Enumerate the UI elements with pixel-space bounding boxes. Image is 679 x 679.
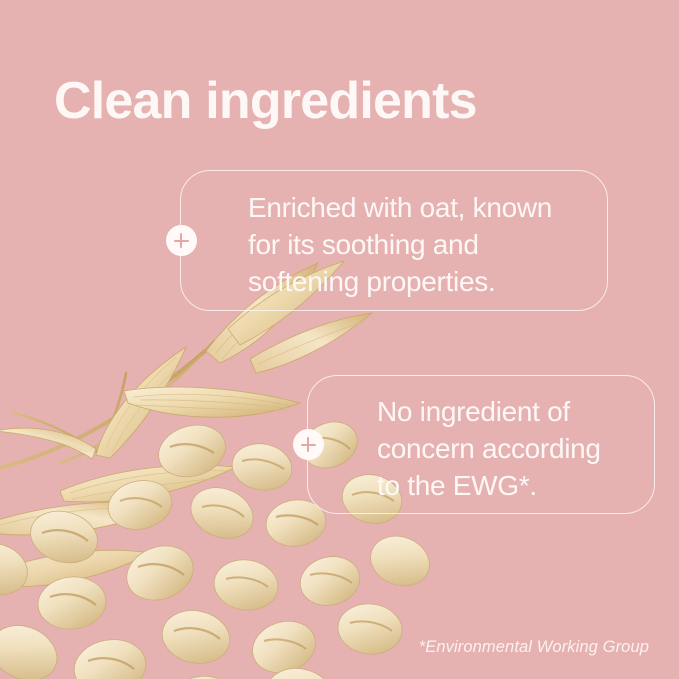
benefit-card-ewg: No ingredient of concern according to th… <box>307 375 655 514</box>
plus-icon-vertical-bar <box>307 437 309 452</box>
footnote: *Environmental Working Group <box>419 638 649 657</box>
benefit-card-oat: Enriched with oat, known for its soothin… <box>180 170 608 311</box>
benefit-card-oat-text: Enriched with oat, known for its soothin… <box>248 189 552 300</box>
plus-icon[interactable] <box>166 225 197 256</box>
plus-icon-vertical-bar <box>180 233 182 248</box>
poster-canvas: Clean ingredients Enriched with oat, kno… <box>0 0 679 679</box>
page-title: Clean ingredients <box>54 68 477 134</box>
benefit-card-ewg-text: No ingredient of concern according to th… <box>377 393 601 504</box>
plus-icon[interactable] <box>293 429 324 460</box>
